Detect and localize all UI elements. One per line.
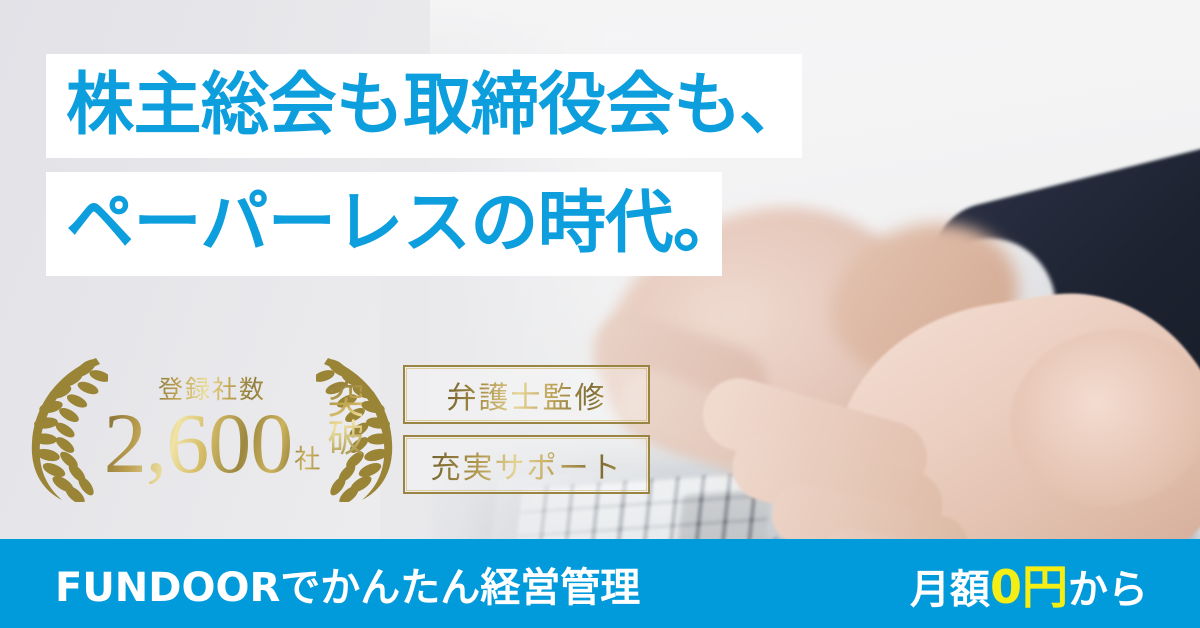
- bottom-bar: FUNDOORでかんたん経営管理 月額0円から: [0, 539, 1200, 628]
- headline-line-1: 株主総会も取締役会も、: [46, 54, 802, 158]
- feature-box-lawyer-supervised-label: 弁護士監修: [447, 373, 607, 417]
- bottom-bar-price: 月額0円から: [910, 551, 1148, 617]
- headline-line-1-text: 株主総会も取締役会も、: [66, 72, 806, 140]
- headline-line-2-text: ペーパーレスの時代。: [66, 190, 740, 258]
- badge-number: 2,600: [104, 404, 293, 483]
- feature-box-lawyer-supervised[interactable]: 弁護士監修: [403, 365, 650, 424]
- feature-box-full-support-label: 充実サポート: [431, 443, 623, 487]
- banner-root: 株主総会も取締役会も、 ペーパーレスの時代。: [0, 0, 1200, 628]
- feature-box-full-support[interactable]: 充実サポート: [403, 435, 650, 494]
- price-prefix: 月額: [910, 567, 990, 613]
- price-amount: 0円: [990, 560, 1068, 614]
- badge-suffix: 突破: [318, 380, 362, 456]
- badge-text-group: 登録社数 2,600 社: [94, 352, 330, 502]
- price-suffix: から: [1068, 567, 1148, 613]
- bottom-bar-tagline: FUNDOORでかんたん経営管理: [55, 555, 640, 613]
- badge-unit: 社: [294, 439, 320, 484]
- badge-count-row: 2,600 社: [104, 404, 321, 483]
- headline-line-2: ペーパーレスの時代。: [46, 172, 722, 276]
- registration-badge: 登録社数 2,600 社 突破: [22, 352, 402, 502]
